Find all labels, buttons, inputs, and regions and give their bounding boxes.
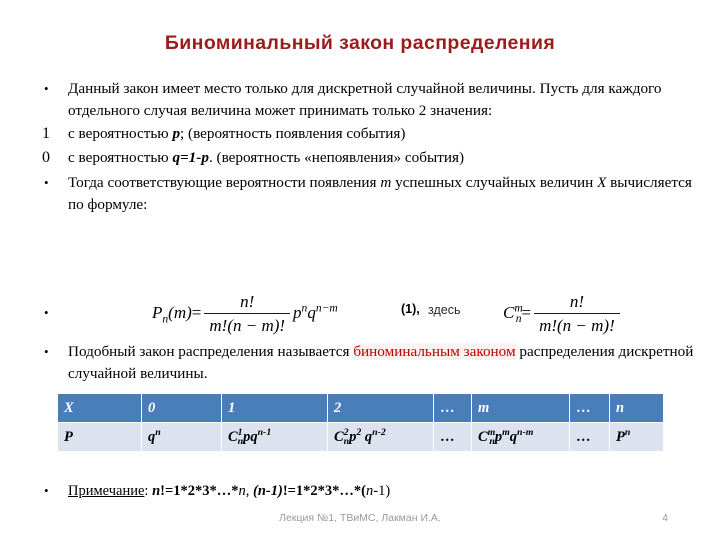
value-line-0-after: . (вероятность «непоявления» события)	[209, 149, 464, 166]
formula-lhs-arg: (m)	[168, 303, 192, 322]
table-header-cell-1: 1	[222, 394, 328, 423]
page-number: 4	[662, 512, 668, 524]
bullet-marker-icon: •	[44, 480, 64, 502]
here-label: здесь	[428, 303, 460, 317]
bullet-text-2-part1: Тогда соответствующие вероятности появле…	[68, 174, 380, 191]
comb-fraction: n!m!(n − m)!	[534, 292, 620, 336]
formula-equals: =	[192, 303, 202, 322]
table-header-cell-x: X	[58, 394, 142, 423]
table-cell-cm: Cmnpmqn-m	[472, 423, 570, 452]
table-header-cell-n: n	[610, 394, 664, 423]
table-cell-qn: qn	[142, 423, 222, 452]
table-cell-pn: Pn	[610, 423, 664, 452]
note-expr1-tail: n	[239, 483, 246, 499]
note-expr2-symbol: (n-1)	[253, 483, 283, 499]
formula-tail-base-p: p	[293, 303, 302, 322]
value-line-1-symbol: p	[172, 125, 180, 142]
table-cell-ellipsis-1: …	[434, 423, 472, 452]
formula-row: • Pn(m)=n!m!(n − m)!pnqn−m (1), здесь Cm…	[0, 16, 720, 76]
value-line-0-before: с вероятностью	[68, 149, 172, 166]
note-label: Примечание	[68, 483, 144, 499]
table-cell-ellipsis-2: …	[570, 423, 610, 452]
formula-fraction: n!m!(n − m)!	[204, 292, 290, 336]
note-expr1: !=1*2*3*…*	[160, 483, 238, 499]
table-header-cell-ellipsis-2: …	[570, 394, 610, 423]
bullet-item-3: • Подобный закон распределения называетс…	[0, 341, 720, 384]
value-marker-zero: 0	[42, 147, 62, 169]
table-row: P qn C1npqn-1 C2np2 qn-2 … Cmnpmqn-m … P…	[58, 423, 664, 452]
table-header-cell-m: m	[472, 394, 570, 423]
bullet-text-2-part2: успешных случайных величин	[391, 174, 597, 191]
note-comma: ,	[246, 483, 253, 499]
note-block: • Примечание: n!=1*2*3*…*n, (n-1)!=1*2*3…	[0, 481, 720, 503]
main-formula: Pn(m)=n!m!(n − m)!pnqn−m	[152, 292, 338, 336]
comb-denominator: m!(n − m)!	[534, 314, 620, 336]
table-cell-c2: C2np2 qn-2	[328, 423, 434, 452]
bullet-marker-icon: •	[44, 341, 64, 363]
content-body: • Данный закон имеет место только для ди…	[0, 78, 720, 217]
highlight-block: • Подобный закон распределения называетс…	[0, 341, 720, 386]
value-line-1: 1 с вероятностью p; (вероятность появлен…	[0, 123, 720, 145]
note-row: • Примечание: n!=1*2*3*…*n, (n-1)!=1*2*3…	[0, 481, 720, 501]
bullet-text-2-symbol-m: m	[380, 174, 391, 191]
note-expr2-end: -1)	[373, 483, 390, 499]
combination-formula: Cmn=n!m!(n − m)!	[503, 292, 623, 336]
bullet-text-1: Данный закон имеет место только для диск…	[68, 80, 662, 119]
bullet-item-1: • Данный закон имеет место только для ди…	[0, 78, 720, 121]
bullet-marker-icon: •	[44, 302, 64, 324]
formula-lhs: P	[152, 303, 162, 322]
table-header-cell-2: 2	[328, 394, 434, 423]
value-line-0-symbol: q=1-p	[172, 149, 209, 166]
note-expr2: !=1*2*3*…*(	[283, 483, 366, 499]
comb-numerator: n!	[534, 292, 620, 314]
value-line-1-before: с вероятностью	[68, 125, 172, 142]
comb-lhs: C	[503, 303, 514, 322]
table-cell-c1: C1npqn-1	[222, 423, 328, 452]
bullet-marker-icon: •	[44, 78, 64, 100]
value-marker-one: 1	[42, 123, 62, 145]
table-header-cell-0: 0	[142, 394, 222, 423]
note-colon: :	[144, 483, 152, 499]
table: X 0 1 2 … m … n P qn C1npqn-1 C2np2 qn-2…	[57, 393, 664, 452]
table-header-cell-ellipsis-1: …	[434, 394, 472, 423]
slide: Биноминальный закон распределения • Данн…	[0, 0, 720, 540]
value-line-0: 0 с вероятностью q=1-p. (вероятность «не…	[0, 147, 720, 169]
formula-tail-base-q: q	[307, 303, 316, 322]
formula-denominator: m!(n − m)!	[204, 314, 290, 336]
distribution-table: X 0 1 2 … m … n P qn C1npqn-1 C2np2 qn-2…	[57, 393, 623, 452]
table-cell-p-label: P	[58, 423, 142, 452]
formula-numerator: n!	[204, 292, 290, 314]
footer-text: Лекция №1, ТВиМС, Лакман И.А.	[0, 512, 720, 524]
equation-number: (1),	[401, 302, 420, 316]
bullet-marker-icon: •	[44, 172, 64, 194]
bullet-item-2: • Тогда соответствующие вероятности появ…	[0, 172, 720, 215]
highlight-text-before: Подобный закон распределения называется	[68, 343, 353, 360]
table-header-row: X 0 1 2 … m … n	[58, 394, 664, 423]
comb-equals: =	[521, 303, 531, 322]
highlighted-term: биноминальным законом	[353, 343, 515, 360]
bullet-text-2-symbol-x: X	[597, 174, 606, 191]
value-line-1-after: ; (вероятность появления события)	[180, 125, 405, 142]
note-expr1-symbol: n	[152, 483, 160, 499]
formula-tail-exp-nm: n−m	[316, 301, 338, 314]
